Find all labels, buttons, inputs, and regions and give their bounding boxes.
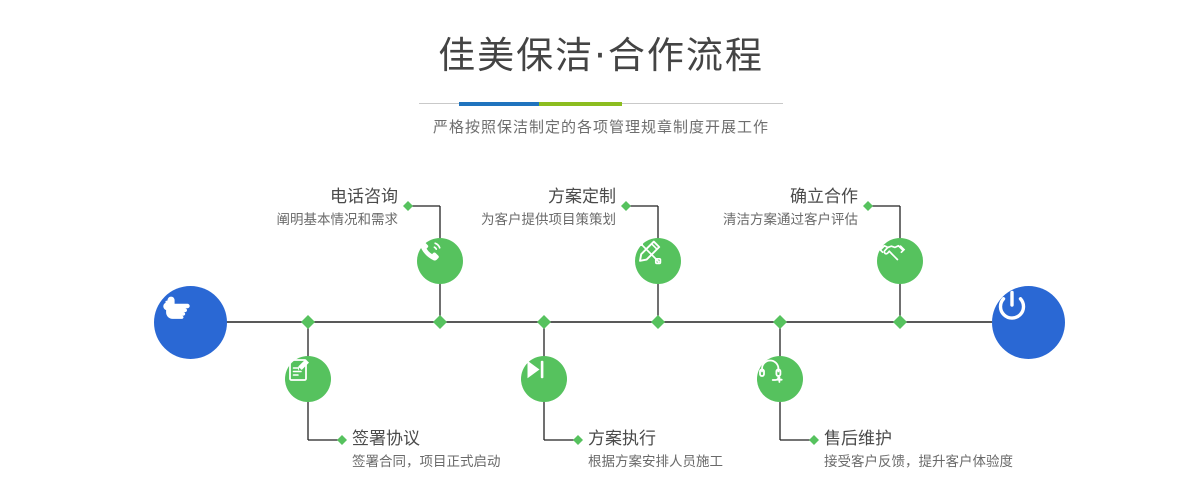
step-title: 方案定制: [398, 186, 616, 208]
diamond-marker: [433, 315, 447, 329]
label-diamond: [573, 435, 583, 445]
step-label-3: 方案定制 为客户提供项目策策划: [398, 186, 616, 230]
phone-call-icon: [417, 238, 445, 266]
step-label-5: 确立合作 清洁方案通过客户评估: [640, 186, 858, 230]
label-diamond: [621, 201, 631, 211]
flow-connectors: [0, 0, 1202, 502]
step-title: 确立合作: [640, 186, 858, 208]
diamond-marker: [651, 315, 665, 329]
step-icon-3[interactable]: [635, 238, 681, 284]
label-diamond: [863, 201, 873, 211]
document-edit-icon: [285, 356, 313, 384]
process-flow-diagram: 电话咨询 阐明基本情况和需求 方案定制 为客户提供项目策策划 确立合作 清洁方案…: [0, 0, 1202, 502]
flow-end-node[interactable]: [992, 286, 1065, 359]
step-label-6: 售后维护 接受客户反馈，提升客户体验度: [824, 428, 1013, 472]
step-desc: 签署合同，项目正式启动: [352, 452, 501, 472]
step-desc: 清洁方案通过客户评估: [640, 210, 858, 230]
label-diamond: [337, 435, 347, 445]
step-icon-4[interactable]: [521, 356, 567, 402]
step-label-4: 方案执行 根据方案安排人员施工: [588, 428, 723, 472]
step-icon-5[interactable]: [877, 238, 923, 284]
flow-start-node[interactable]: [154, 286, 227, 359]
label-diamond: [809, 435, 819, 445]
pencil-ruler-icon: [635, 238, 663, 266]
step-title: 签署协议: [352, 428, 501, 450]
handshake-icon: [877, 238, 907, 268]
diamond-marker: [773, 315, 787, 329]
step-title: 售后维护: [824, 428, 1013, 450]
step-label-2: 签署协议 签署合同，项目正式启动: [352, 428, 501, 472]
step-desc: 为客户提供项目策策划: [398, 210, 616, 230]
step-desc: 阐明基本情况和需求: [180, 210, 398, 230]
step-title: 方案执行: [588, 428, 723, 450]
play-execute-icon: [521, 356, 549, 384]
step-title: 电话咨询: [180, 186, 398, 208]
step-icon-2[interactable]: [285, 356, 331, 402]
power-button-icon: [992, 286, 1032, 326]
diamond-marker: [537, 315, 551, 329]
step-desc: 接受客户反馈，提升客户体验度: [824, 452, 1013, 472]
customer-service-add-icon: [757, 356, 785, 384]
step-desc: 根据方案安排人员施工: [588, 452, 723, 472]
diamond-marker: [301, 315, 315, 329]
thumb-pointing-hand-icon: [154, 286, 196, 328]
step-icon-6[interactable]: [757, 356, 803, 402]
step-label-1: 电话咨询 阐明基本情况和需求: [180, 186, 398, 230]
step-icon-1[interactable]: [417, 238, 463, 284]
diamond-marker: [893, 315, 907, 329]
